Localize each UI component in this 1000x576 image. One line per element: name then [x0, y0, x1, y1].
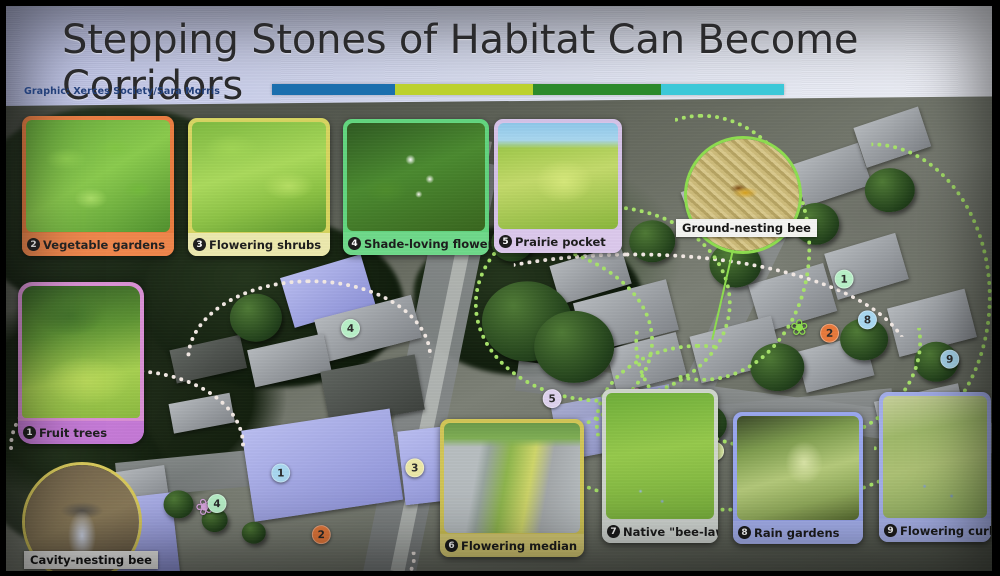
photo-caption: 7 Native "bee-lawn" — [602, 520, 718, 543]
screen-edge-bottom — [0, 571, 1000, 576]
map-marker-label: 2 — [826, 327, 833, 339]
map-marker[interactable]: 1 — [835, 269, 854, 288]
map-marker-label: 5 — [548, 393, 555, 405]
screen-edge-top — [0, 0, 1000, 6]
map-marker-label: 1 — [277, 467, 284, 479]
photo-card-shade-loving-flowers[interactable]: 4 Shade-loving flowers — [343, 119, 489, 255]
map-marker[interactable]: 4 — [207, 494, 226, 513]
building — [792, 143, 872, 207]
bee-label-cavity-nesting: Cavity-nesting bee — [24, 551, 158, 569]
map-marker-label: 4 — [347, 322, 354, 334]
photo-card-flowering-median[interactable]: 6 Flowering median — [440, 419, 584, 557]
photo-number: 5 — [499, 235, 512, 248]
photo-number: 7 — [607, 525, 620, 538]
map-marker-label: 3 — [411, 462, 418, 474]
map-marker[interactable]: 8 — [858, 310, 877, 329]
photo-caption: 4 Shade-loving flowers — [343, 232, 489, 255]
photo-label: Prairie pocket — [515, 235, 606, 249]
photo-image — [192, 122, 326, 232]
photo-number: 2 — [27, 238, 40, 251]
photo-image — [498, 123, 618, 229]
bee-label-ground-nesting: Ground-nesting bee — [676, 219, 817, 237]
photo-number: 4 — [348, 237, 361, 250]
map-marker[interactable]: 2 — [312, 525, 331, 544]
photo-image — [347, 123, 485, 231]
map-marker-label: 2 — [318, 529, 325, 541]
photo-number: 6 — [445, 539, 458, 552]
tree — [163, 490, 193, 518]
photo-caption: 9 Flowering curb — [879, 519, 991, 542]
photo-label: Flowering shrubs — [209, 238, 321, 252]
photo-label: Flowering median — [461, 539, 577, 553]
slide-photo: ❀ ❀ 4 1 3 4 6 2 1 1 2 5 1 3 7 3 — [0, 0, 1000, 576]
map-marker[interactable]: 4 — [341, 319, 360, 338]
photo-image — [883, 396, 987, 518]
photo-label: Vegetable gardens — [43, 238, 165, 252]
photo-image — [737, 416, 859, 520]
photo-number: 9 — [884, 524, 897, 537]
photo-card-rain-gardens[interactable]: 8 Rain gardens — [733, 412, 863, 544]
screen-edge-right — [992, 0, 1000, 576]
photo-caption: 5 Prairie pocket — [494, 230, 622, 253]
photo-image — [26, 120, 170, 232]
graphic-credit: Graphic: Xerces Society/Sara Morris — [24, 86, 220, 97]
map-marker-label: 8 — [864, 314, 871, 326]
photo-number: 1 — [23, 426, 36, 439]
map-marker-label: 9 — [946, 353, 953, 365]
map-marker[interactable]: 5 — [543, 389, 562, 408]
screen-edge-left — [0, 0, 6, 576]
photo-card-flowering-shrubs[interactable]: 3 Flowering shrubs — [188, 118, 330, 256]
map-marker-label: 4 — [213, 498, 220, 510]
photo-number: 8 — [738, 526, 751, 539]
map-marker[interactable]: 3 — [405, 458, 424, 477]
map-marker[interactable]: 9 — [940, 350, 959, 369]
photo-number: 3 — [193, 238, 206, 251]
photo-image — [22, 286, 140, 418]
photo-card-fruit-trees[interactable]: 1 Fruit trees — [18, 282, 144, 444]
photo-label: Fruit trees — [39, 426, 107, 440]
photo-label: Rain gardens — [754, 526, 839, 540]
map-marker[interactable]: 2 — [820, 324, 839, 343]
photo-caption: 8 Rain gardens — [733, 521, 863, 544]
photo-caption: 6 Flowering median — [440, 534, 584, 557]
photo-caption: 2 Vegetable gardens — [22, 233, 174, 256]
photo-card-flowering-curb[interactable]: 9 Flowering curb — [879, 392, 991, 542]
photo-image — [444, 423, 580, 533]
photo-label: Native "bee-lawn" — [623, 525, 718, 539]
tree — [242, 522, 266, 544]
photo-label: Flowering curb — [900, 524, 991, 538]
photo-caption: 3 Flowering shrubs — [188, 233, 330, 256]
map-marker[interactable]: 1 — [271, 463, 290, 482]
photo-card-vegetable-gardens[interactable]: 2 Vegetable gardens — [22, 116, 174, 256]
photo-label: Shade-loving flowers — [364, 237, 489, 251]
projected-screen: ❀ ❀ 4 1 3 4 6 2 1 1 2 5 1 3 7 3 — [0, 0, 1000, 576]
photo-caption: 1 Fruit trees — [18, 421, 144, 444]
map-marker-label: 1 — [840, 273, 847, 285]
plant-icon: ❀ — [790, 315, 809, 341]
photo-image — [606, 393, 714, 519]
photo-card-native-bee-lawn[interactable]: 7 Native "bee-lawn" — [602, 389, 718, 543]
photo-card-prairie-pocket[interactable]: 5 Prairie pocket — [494, 119, 622, 253]
